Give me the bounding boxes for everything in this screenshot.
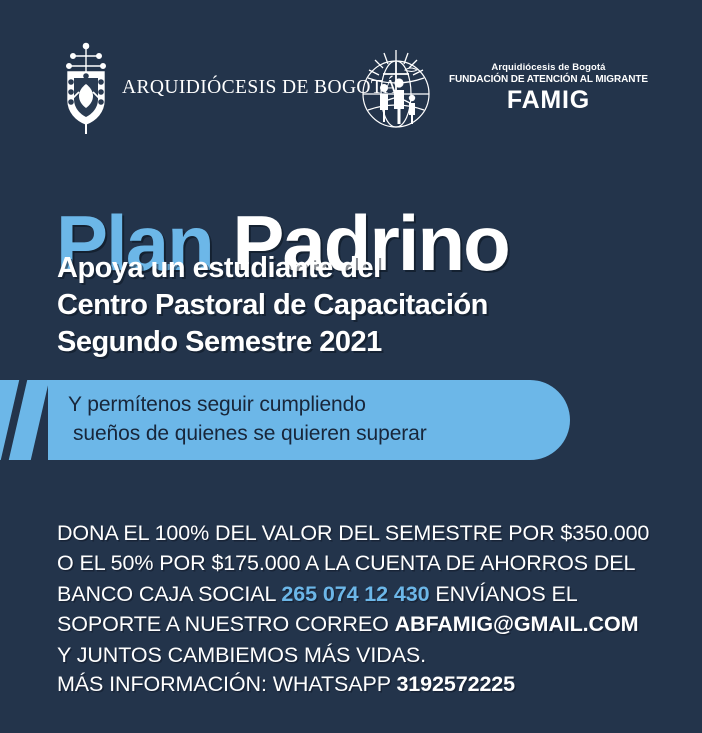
subtitle-block: Apoya un estudiante del Centro Pastoral … xyxy=(57,250,488,361)
more-info-label: MÁS INFORMACIÓN: WHATSAPP xyxy=(57,672,396,696)
subtitle-line-1: Apoya un estudiante del xyxy=(57,250,488,287)
body-segment-3: Y JUNTOS CAMBIEMOS MÁS VIDAS. xyxy=(57,643,426,667)
contact-email[interactable]: ABFAMIG@GMAIL.COM xyxy=(395,612,639,636)
subtitle-line-2: Centro Pastoral de Capacitación xyxy=(57,287,488,324)
tagline-banner: Y permítenos seguir cumpliendo sueños de… xyxy=(0,380,702,460)
famig-line-3: FAMIG xyxy=(449,86,648,115)
poster-canvas: Arquidiócesis de Bogotá xyxy=(0,0,702,733)
logo-famig: Arquidiócesis de Bogotá FUNDACIÓN DE ATE… xyxy=(355,48,648,130)
banner-line-2: sueños de quienes se quieren superar xyxy=(68,420,427,449)
famig-wordmark: Arquidiócesis de Bogotá FUNDACIÓN DE ATE… xyxy=(449,63,648,115)
shield-crest-icon xyxy=(60,42,112,134)
famig-line-1: Arquidiócesis de Bogotá xyxy=(449,63,648,74)
logo-arquidiocesis: Arquidiócesis de Bogotá xyxy=(60,42,398,134)
globe-family-cross-icon xyxy=(355,48,437,130)
subtitle-line-3: Segundo Semestre 2021 xyxy=(57,324,488,361)
banner-line-1: Y permítenos seguir cumpliendo xyxy=(68,391,427,420)
logo-bar: Arquidiócesis de Bogotá xyxy=(0,40,702,140)
bank-account-number: 265 074 12 430 xyxy=(281,582,429,606)
famig-line-2: FUNDACIÓN DE ATENCIÓN AL MIGRANTE xyxy=(449,74,648,86)
more-info-line: MÁS INFORMACIÓN: WHATSAPP 3192572225 xyxy=(57,672,515,697)
donation-instructions: DONA EL 100% DEL VALOR DEL SEMESTRE POR … xyxy=(57,518,657,671)
banner-text: Y permítenos seguir cumpliendo sueños de… xyxy=(68,391,427,449)
whatsapp-phone-number[interactable]: 3192572225 xyxy=(396,672,515,696)
